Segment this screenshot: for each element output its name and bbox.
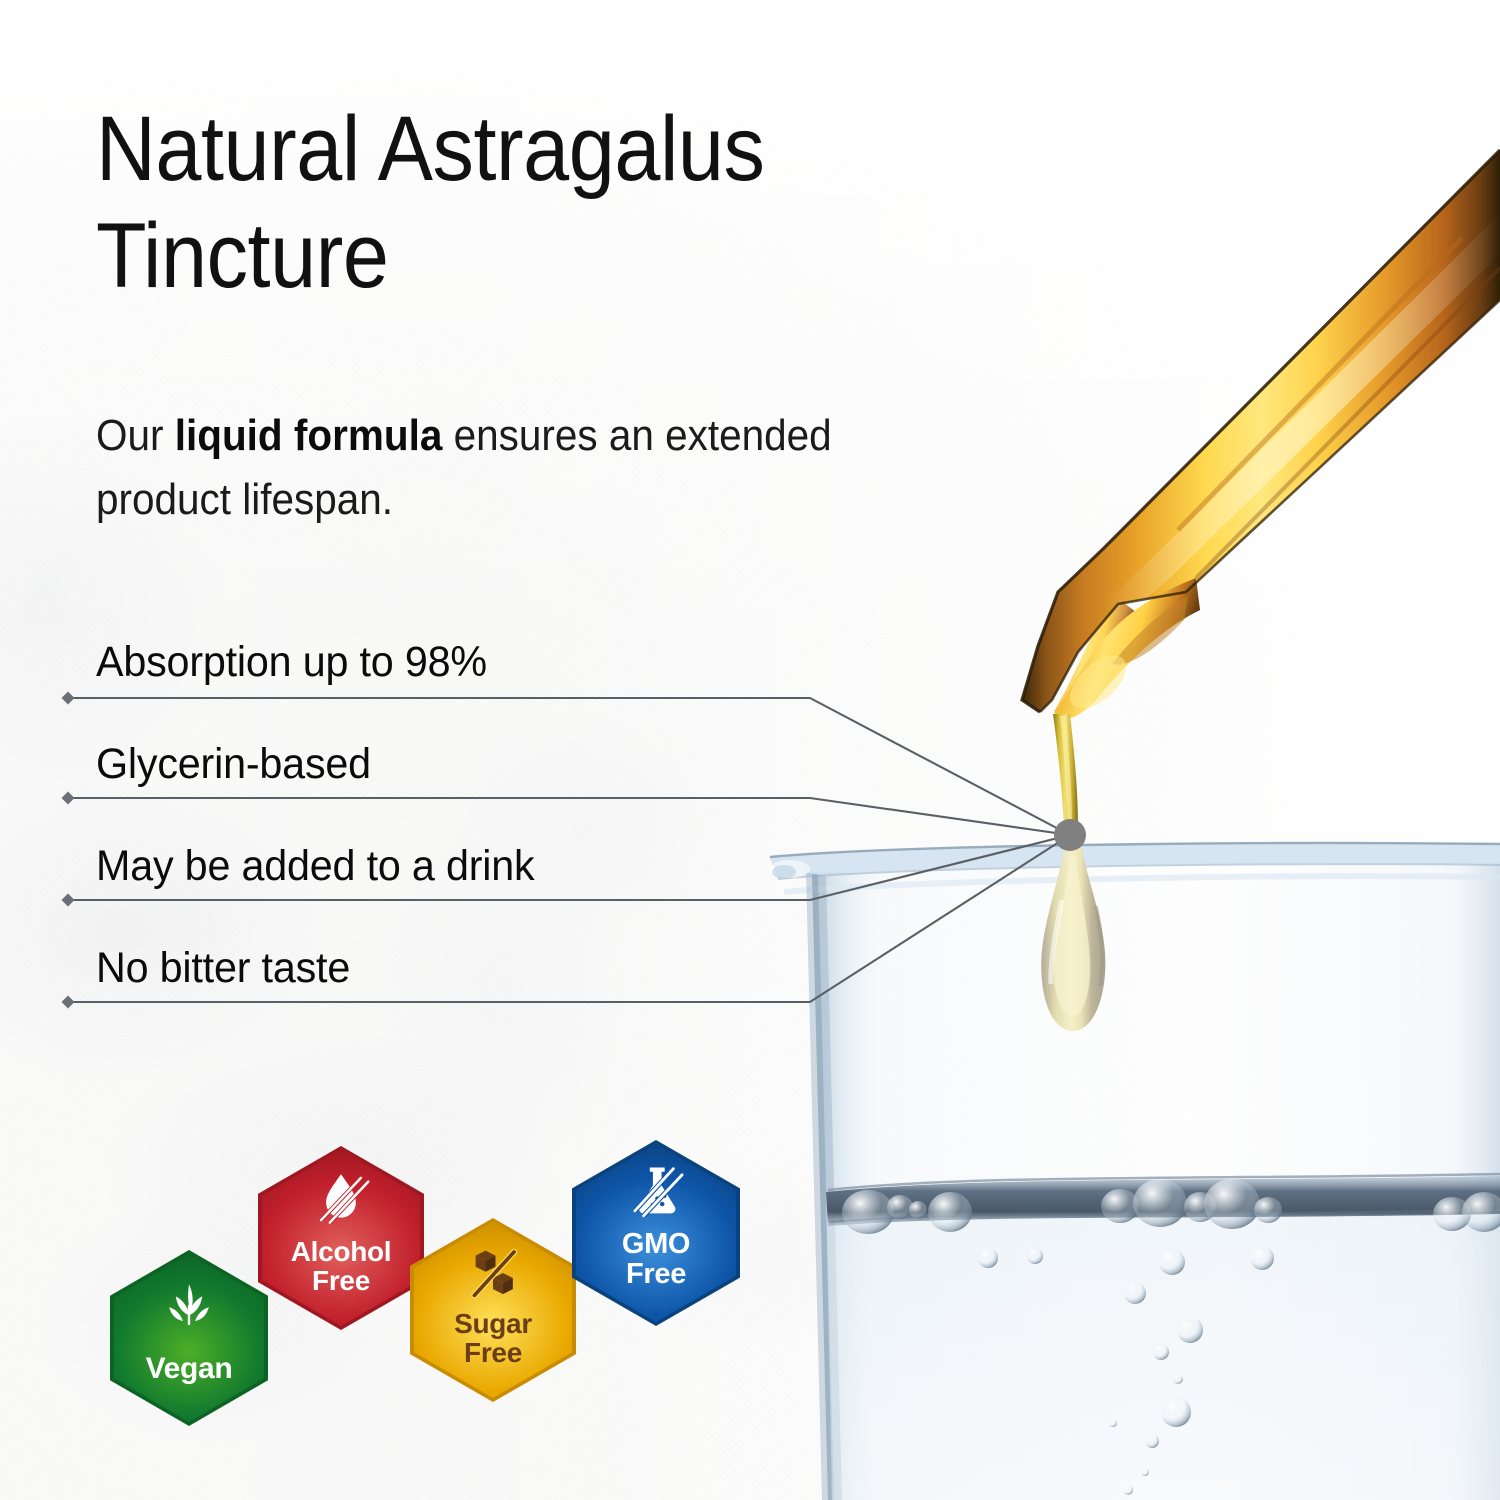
feature-label-1: Absorption up to 98% [96,638,487,687]
badge-label-line-1: Sugar [454,1308,532,1339]
callout-marker-1 [62,692,75,705]
badge-alcohol-free: AlcoholFree [258,1146,424,1330]
feature-label-4: No bitter taste [96,944,350,993]
badge-sugar-free: SugarFree [410,1218,576,1402]
badge-label: GMOFree [572,1230,740,1289]
feature-label-3: May be added to a drink [96,842,534,891]
feature-label-2: Glycerin-based [96,740,371,789]
droplet-slash-icon [258,1168,424,1230]
callout-leader-2 [68,798,1070,835]
subtitle-emphasis: liquid formula [175,411,443,460]
callout-focus-dot [1054,819,1086,851]
badge-label-line-1: GMO [622,1228,690,1260]
product-subtitle: Our liquid formula ensures an extended p… [96,404,832,532]
badge-label: Vegan [110,1354,268,1385]
badge-label-line-1: Vegan [146,1352,233,1385]
page-title: Natural Astragalus Tincture [96,96,1050,309]
badge-gmo-free: GMOFree [572,1140,740,1326]
product-infographic: Natural Astragalus Tincture Our liquid f… [0,0,1500,1500]
leaf-icon [110,1276,268,1336]
badge-label-line-2: Free [312,1265,370,1296]
callout-marker-4 [62,996,75,1009]
subtitle-prefix: Our [96,411,175,460]
badge-vegan: Vegan [110,1250,268,1426]
badge-label-line-2: Free [464,1337,522,1368]
callout-marker-2 [62,792,75,805]
badge-label-line-1: Alcohol [291,1236,392,1267]
badge-label: SugarFree [410,1310,576,1367]
sugar-cubes-slash-icon [410,1242,576,1304]
badge-label: AlcoholFree [258,1238,424,1295]
badge-label-line-2: Free [626,1258,686,1290]
title-line-1: Natural Astragalus [96,98,764,200]
title-line-2: Tincture [96,205,388,307]
callout-marker-3 [62,894,75,907]
flask-slash-icon [572,1160,740,1222]
